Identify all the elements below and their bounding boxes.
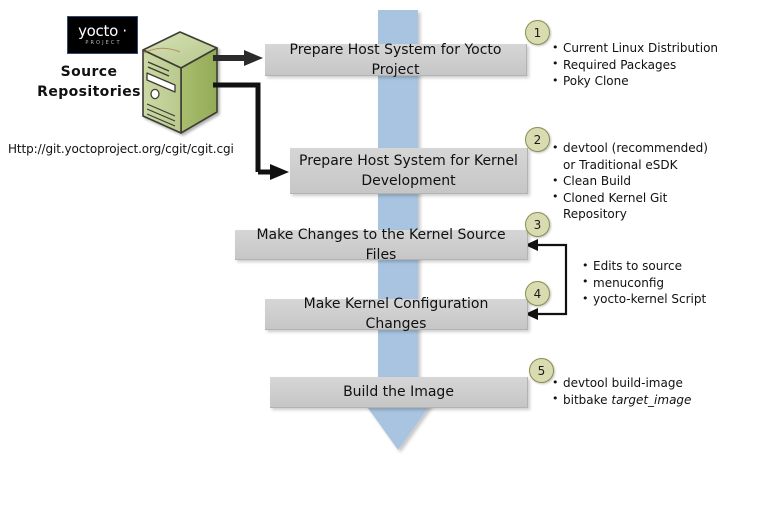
yocto-project-logo: yocto · PROJECT	[67, 16, 138, 54]
step-1-number: 1	[534, 26, 542, 40]
list-item: yocto-kernel Script	[582, 291, 757, 308]
list-item: Clean Build	[552, 173, 724, 190]
step-number-badge-2: 2	[525, 127, 550, 152]
box-2-label: Prepare Host System for Kernel Developme…	[296, 151, 521, 191]
process-box-build-image[interactable]: Build the Image	[270, 377, 528, 408]
steps-3-4-bracket-connector	[520, 236, 578, 326]
step-3-number: 3	[534, 218, 542, 232]
source-label-line-2: Repositories	[30, 82, 148, 102]
list-item: Cloned Kernel Git Repository	[552, 190, 724, 223]
box-1-label: Prepare Host System for Yocto Project	[271, 40, 520, 80]
list-item: devtool (recommended) or Traditional eSD…	[552, 140, 724, 173]
list-item: Poky Clone	[552, 73, 762, 90]
list-item: menuconfig	[582, 275, 757, 292]
logo-subtitle: PROJECT	[85, 41, 121, 46]
logo-wordmark: yocto ·	[78, 24, 127, 39]
list-item: bitbake target_image	[552, 392, 752, 409]
step-number-badge-1: 1	[525, 20, 550, 45]
list-item: Required Packages	[552, 57, 762, 74]
box-5-label: Build the Image	[343, 382, 454, 402]
step-2-bullet-list: devtool (recommended) or Traditional eSD…	[552, 140, 724, 223]
list-item: devtool build-image	[552, 375, 752, 392]
source-label-line-1: Source	[30, 62, 148, 82]
steps-3-4-bullet-list: Edits to source menuconfig yocto-kernel …	[582, 258, 757, 308]
list-item: Edits to source	[582, 258, 757, 275]
box-4-label: Make Kernel Configuration Changes	[271, 294, 521, 334]
process-box-make-config-changes[interactable]: Make Kernel Configuration Changes	[265, 299, 528, 330]
step-5-number: 5	[538, 364, 546, 378]
step-4-number: 4	[534, 287, 542, 301]
diagram-canvas: yocto · PROJECT Source Repositories Http…	[0, 0, 769, 517]
bitbake-command-prefix: bitbake	[563, 393, 611, 407]
process-box-prepare-host-yocto[interactable]: Prepare Host System for Yocto Project	[265, 44, 527, 76]
bitbake-target-placeholder: target_image	[611, 393, 691, 407]
step-number-badge-3: 3	[525, 212, 550, 237]
step-number-badge-5: 5	[529, 358, 554, 383]
step-5-bullet-list: devtool build-image bitbake target_image	[552, 375, 752, 408]
source-repositories-label: Source Repositories	[30, 62, 148, 102]
process-box-prepare-host-kernel[interactable]: Prepare Host System for Kernel Developme…	[290, 148, 528, 194]
list-item: Current Linux Distribution	[552, 40, 762, 57]
box-3-label: Make Changes to the Kernel Source Files	[241, 225, 521, 265]
step-number-badge-4: 4	[525, 281, 550, 306]
process-box-make-source-changes[interactable]: Make Changes to the Kernel Source Files	[235, 230, 528, 260]
step-2-number: 2	[534, 133, 542, 147]
step-1-bullet-list: Current Linux Distribution Required Pack…	[552, 40, 762, 90]
